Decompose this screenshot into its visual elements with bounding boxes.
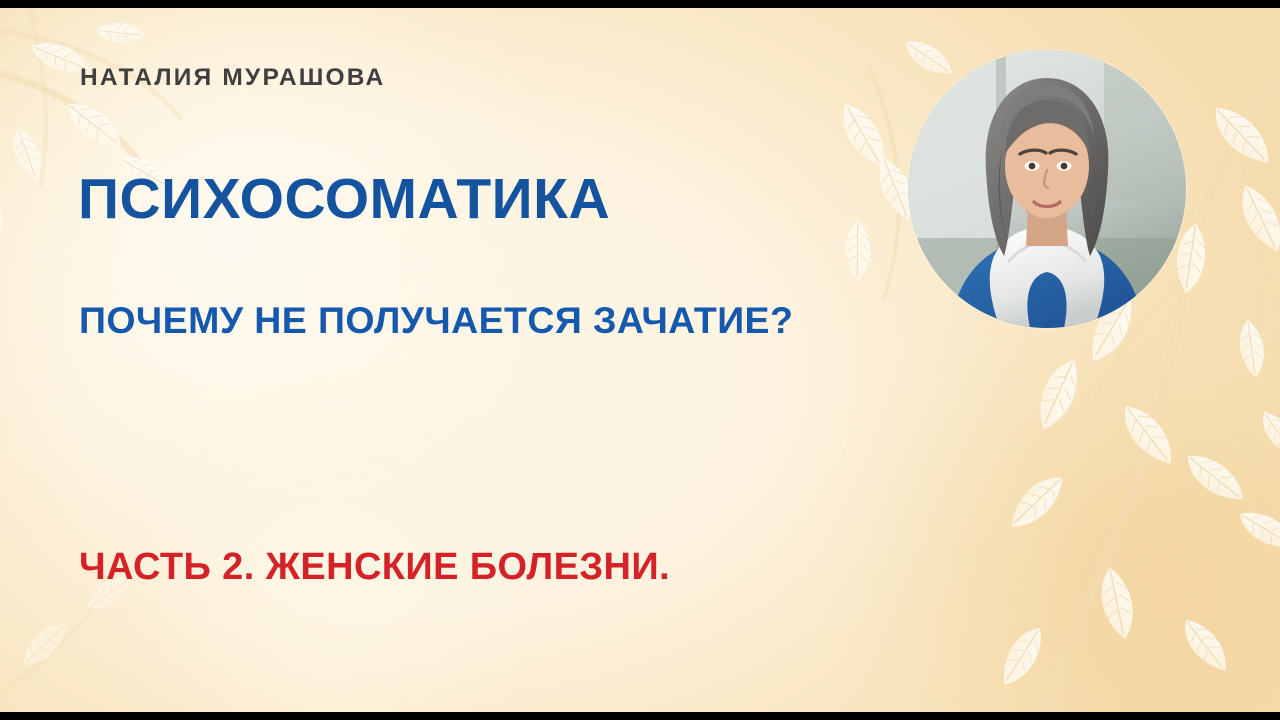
background-glow-bottom-right bbox=[860, 312, 1280, 712]
part-label: ЧАСТЬ 2. ЖЕНСКИЕ БОЛЕЗНИ. bbox=[79, 546, 670, 589]
author-name: НАТАЛИЯ МУРАШОВА bbox=[80, 64, 385, 92]
slide-canvas: НАТАЛИЯ МУРАШОВА ПСИХОСОМАТИКА ПОЧЕМУ НЕ… bbox=[0, 8, 1280, 712]
page-title: ПСИХОСОМАТИКА bbox=[78, 170, 610, 228]
letterbox-bar-bottom bbox=[0, 712, 1280, 720]
letterbox-bar-top bbox=[0, 0, 1280, 8]
slide-subtitle: ПОЧЕМУ НЕ ПОЛУЧАЕТСЯ ЗАЧАТИЕ? bbox=[79, 296, 839, 345]
portrait-illustration bbox=[908, 50, 1186, 328]
video-slide: НАТАЛИЯ МУРАШОВА ПСИХОСОМАТИКА ПОЧЕМУ НЕ… bbox=[0, 0, 1280, 720]
avatar bbox=[908, 50, 1186, 328]
slide-text-block: НАТАЛИЯ МУРАШОВА ПСИХОСОМАТИКА ПОЧЕМУ НЕ… bbox=[78, 8, 898, 712]
